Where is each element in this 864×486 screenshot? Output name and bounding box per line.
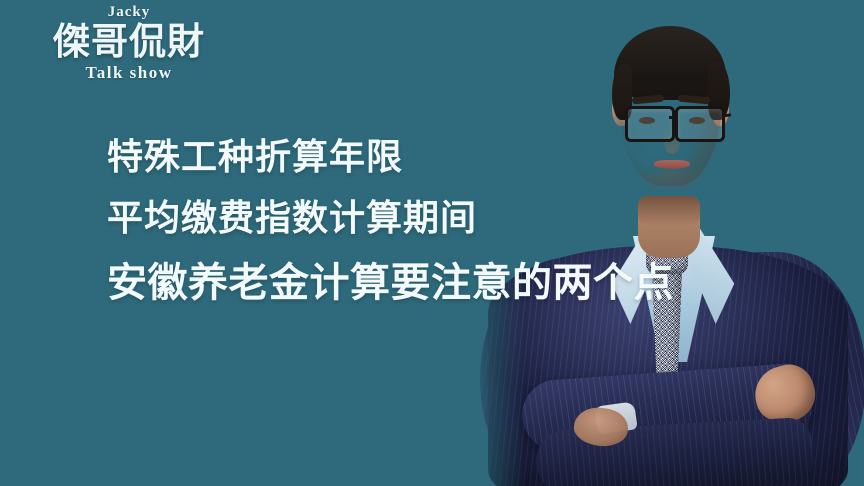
logo-main-text: 傑哥侃財 bbox=[24, 20, 234, 62]
headline-block: 特殊工种折算年限 平均缴费指数计算期间 安徽养老金计算要注意的两个点 bbox=[107, 128, 807, 316]
video-thumbnail: Jacky 傑哥侃財 Talk show 特殊工种折算年限 平均缴费指数计算期间… bbox=[0, 0, 864, 486]
headline-line-3: 安徽养老金计算要注意的两个点 bbox=[107, 250, 807, 316]
headline-line-2: 平均缴费指数计算期间 bbox=[107, 188, 807, 250]
headline-line-1: 特殊工种折算年限 bbox=[107, 128, 807, 188]
logo-bottom-text: Talk show bbox=[24, 63, 234, 83]
channel-logo: Jacky 傑哥侃財 Talk show bbox=[24, 4, 234, 83]
glasses-bridge bbox=[669, 116, 677, 119]
